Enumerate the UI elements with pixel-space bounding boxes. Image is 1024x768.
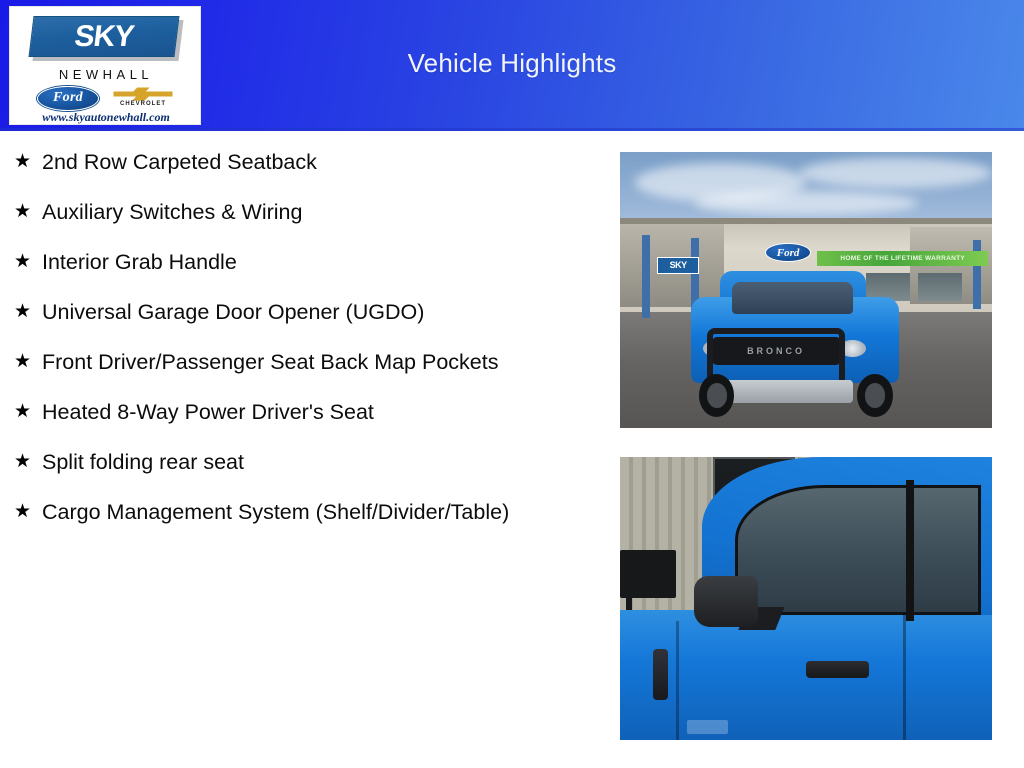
highlights-list: ★ 2nd Row Carpeted Seatback ★ Auxiliary … xyxy=(14,146,604,546)
star-icon: ★ xyxy=(14,346,42,378)
chevrolet-label: CHEVROLET xyxy=(111,101,175,107)
star-icon: ★ xyxy=(14,196,42,228)
fender-seam xyxy=(676,621,679,740)
wheel-front-right xyxy=(857,374,892,417)
b-pillar xyxy=(906,480,914,622)
list-item-label: Cargo Management System (Shelf/Divider/T… xyxy=(42,496,604,528)
dealer-logo: SKY NEWHALL Ford CHEVROLET www.skyautone… xyxy=(9,6,201,125)
ford-oval-label: Ford xyxy=(53,90,83,106)
slide-root: Vehicle Highlights SKY NEWHALL Ford CHEV… xyxy=(0,0,1024,768)
ford-building-sign-label: Ford xyxy=(777,247,800,259)
list-item-label: 2nd Row Carpeted Seatback xyxy=(42,146,604,178)
cloud-shape xyxy=(799,158,992,188)
vehicle-exterior-photo: SKY Ford HOME OF THE LIFETIME WARRANTY B… xyxy=(620,152,992,428)
wheel-front-left xyxy=(699,374,734,417)
sky-building-sign-label: SKY xyxy=(670,260,687,270)
list-item: ★ Interior Grab Handle xyxy=(14,246,604,278)
list-item: ★ Cargo Management System (Shelf/Divider… xyxy=(14,496,604,528)
bronco-sport-vehicle: BRONCO xyxy=(691,271,899,415)
side-badge xyxy=(687,720,728,734)
warranty-banner: HOME OF THE LIFETIME WARRANTY xyxy=(817,251,988,266)
header-divider xyxy=(0,128,1024,131)
list-item-label: Heated 8-Way Power Driver's Seat xyxy=(42,396,604,428)
star-icon: ★ xyxy=(14,496,42,528)
cloud-shape xyxy=(694,191,917,216)
vehicle-windshield xyxy=(732,282,853,314)
dealer-location-text: NEWHALL xyxy=(10,67,201,82)
list-item: ★ Front Driver/Passenger Seat Back Map P… xyxy=(14,346,604,378)
ford-oval-icon: Ford xyxy=(37,86,99,111)
canopy-post xyxy=(642,235,650,318)
star-icon: ★ xyxy=(14,246,42,278)
warranty-banner-label: HOME OF THE LIFETIME WARRANTY xyxy=(840,255,965,262)
chevrolet-logo: CHEVROLET xyxy=(111,85,175,111)
door-handle xyxy=(806,661,869,678)
star-icon: ★ xyxy=(14,146,42,178)
list-item: ★ Heated 8-Way Power Driver's Seat xyxy=(14,396,604,428)
showroom-window xyxy=(918,273,963,301)
list-item: ★ 2nd Row Carpeted Seatback xyxy=(14,146,604,178)
list-item: ★ Split folding rear seat xyxy=(14,446,604,478)
list-item-label: Split folding rear seat xyxy=(42,446,604,478)
list-item-label: Interior Grab Handle xyxy=(42,246,604,278)
list-item-label: Auxiliary Switches & Wiring xyxy=(42,196,604,228)
vehicle-mirror-photo xyxy=(620,457,992,740)
sky-brand-mark: SKY xyxy=(31,16,183,63)
list-item: ★ Universal Garage Door Opener (UGDO) xyxy=(14,296,604,328)
sky-brand-text: SKY xyxy=(28,16,179,57)
star-icon: ★ xyxy=(14,396,42,428)
front-door-window xyxy=(735,485,981,615)
ford-building-sign: Ford xyxy=(765,243,811,262)
star-icon: ★ xyxy=(14,296,42,328)
list-item-label: Universal Garage Door Opener (UGDO) xyxy=(42,296,604,328)
side-mirror xyxy=(694,576,757,627)
bench xyxy=(620,550,676,598)
chevrolet-bowtie-icon xyxy=(113,87,173,101)
franchise-logos: Ford CHEVROLET xyxy=(10,85,201,111)
list-item-label: Front Driver/Passenger Seat Back Map Poc… xyxy=(42,346,604,378)
list-item: ★ Auxiliary Switches & Wiring xyxy=(14,196,604,228)
star-icon: ★ xyxy=(14,446,42,478)
dealer-website-text: www.skyautonewhall.com xyxy=(10,110,201,125)
door-seam xyxy=(903,613,906,740)
fender-vent xyxy=(653,649,668,700)
